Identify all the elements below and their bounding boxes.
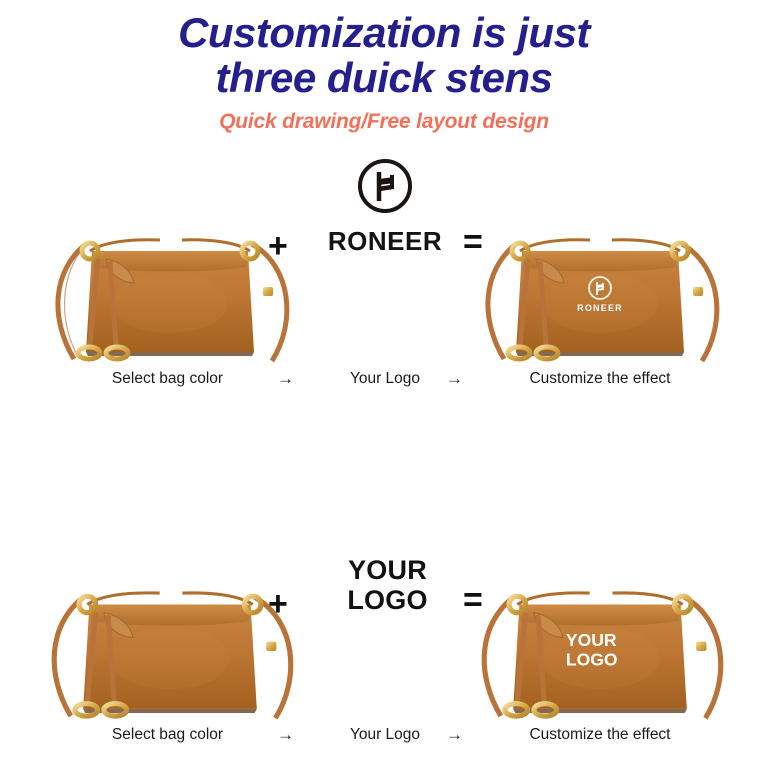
caption-your-logo: Your Logo [300,726,470,744]
page-title-line-2: three duick stens [40,55,728,100]
bag-imprint-line-2: LOGO [566,649,618,669]
arrow-right-icon: → [446,725,463,745]
caption-your-logo: Your Logo [300,370,470,388]
bag-branded-top[interactable]: RONEER [450,215,750,380]
bag-imprint-line-1: YOUR [566,630,617,650]
page-subtitle: Quick drawing/Free layout design [0,110,768,134]
bag-imprint-text: RONEER [577,303,623,313]
arrow-right-icon: → [277,369,294,389]
page-title-line-1: Customization is just [40,10,728,55]
page-header: Customization is just three duick stens … [0,0,768,134]
caption-customize-the-effect: Customize the effect [480,726,720,744]
bag-illustration-with-text-logo: YOUR LOGO [445,565,755,740]
caption-select-bag-color: Select bag color [60,726,275,744]
arrow-right-icon: → [277,725,294,745]
bag-illustration-with-logo: RONEER [450,215,750,380]
caption-customize-the-effect: Customize the effect [480,370,720,388]
bag-branded-bottom[interactable]: YOUR LOGO [450,565,750,730]
brand-logo-block[interactable]: RONEER [300,155,470,257]
page-title: Customization is just three duick stens [0,10,768,101]
brand-name: RONEER [300,226,470,257]
caption-select-bag-color: Select bag color [60,370,275,388]
step-captions-bottom: Select bag color → Your Logo → Customize… [0,726,768,750]
roneer-monogram-icon [354,155,416,217]
step-captions-top: Select bag color → Your Logo → Customize… [0,370,768,394]
plus-operator-bottom: + [268,587,288,621]
arrow-right-icon: → [446,369,463,389]
plus-operator-top: + [268,229,288,263]
